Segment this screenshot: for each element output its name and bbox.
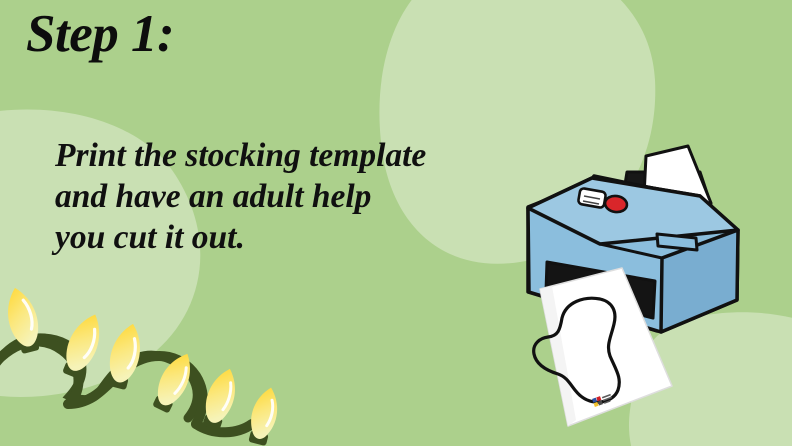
printer-handle xyxy=(657,234,697,250)
christmas-string-lights xyxy=(0,284,283,446)
light-bulb xyxy=(245,385,283,446)
body-text: Print the stocking template and have an … xyxy=(55,136,525,259)
body-line: and have an adult help xyxy=(55,177,525,218)
printer-illustration xyxy=(528,146,738,426)
slide-canvas: Step 1: Print the stocking template and … xyxy=(0,0,792,446)
page-title: Step 1: xyxy=(26,4,174,65)
body-line: Print the stocking template xyxy=(55,136,525,177)
body-line: you cut it out. xyxy=(55,218,525,259)
